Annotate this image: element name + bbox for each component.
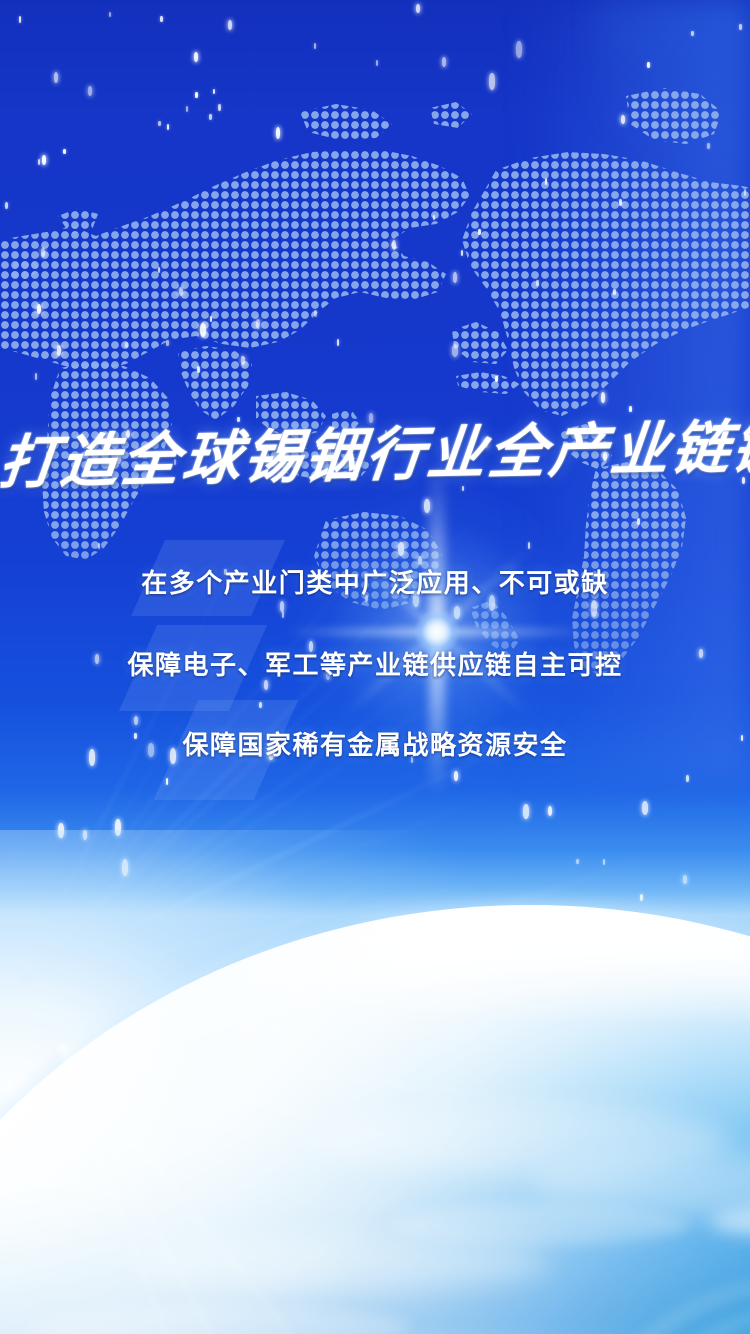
star-sparkle [601, 392, 605, 403]
star-sparkle [613, 289, 616, 296]
star-sparkle [619, 199, 622, 206]
star-sparkle [433, 215, 436, 220]
star-sparkle [194, 52, 198, 62]
star-sparkle [158, 267, 161, 273]
star-sparkle [256, 319, 260, 330]
star-sparkle [337, 339, 340, 346]
star-sparkle [314, 310, 317, 317]
star-sparkle [109, 12, 112, 17]
star-sparkle [195, 92, 198, 98]
star-sparkle [495, 376, 498, 382]
star-sparkle [376, 60, 379, 66]
star-sparkle [213, 89, 216, 95]
star-sparkle [629, 406, 632, 412]
star-sparkle [276, 127, 280, 139]
star-sparkle [489, 73, 495, 90]
star-sparkle [691, 31, 694, 37]
star-sparkle [160, 16, 163, 22]
region-alaska [452, 322, 508, 364]
star-sparkle [280, 601, 284, 612]
star-sparkle [453, 272, 457, 282]
earth-graphic [0, 905, 750, 1334]
star-sparkle [35, 373, 38, 380]
islands-aleutian [456, 372, 520, 394]
star-sparkle [392, 240, 396, 250]
star-sparkle [739, 24, 742, 30]
star-sparkle [744, 189, 747, 196]
star-sparkle [83, 830, 87, 840]
star-sparkle [545, 178, 548, 185]
poster-subtitle-1: 在多个产业门类中广泛应用、不可或缺 [0, 563, 750, 600]
star-sparkle [218, 104, 221, 111]
region-greenland [626, 88, 722, 144]
star-sparkle [259, 702, 262, 709]
star-sparkle [42, 155, 46, 165]
star-sparkle [282, 611, 285, 617]
star-sparkle [88, 86, 92, 95]
star-sparkle [523, 804, 529, 819]
star-sparkle [591, 600, 597, 617]
star-sparkle [57, 345, 61, 356]
star-sparkle [576, 859, 579, 864]
region-svalbard [430, 102, 472, 128]
star-sparkle [647, 62, 650, 68]
star-sparkle [640, 894, 643, 901]
star-sparkle [516, 41, 522, 58]
star-sparkle [158, 121, 161, 127]
continent-north-america [462, 152, 750, 416]
star-sparkle [209, 114, 212, 120]
star-sparkle [125, 342, 128, 349]
star-sparkle [637, 518, 640, 525]
star-sparkle [548, 806, 552, 817]
continent-eurasia [0, 150, 470, 370]
star-sparkle [197, 366, 200, 373]
star-sparkle [166, 340, 169, 346]
star-sparkle [228, 20, 232, 31]
star-sparkle [642, 801, 648, 815]
star-sparkle [5, 202, 8, 209]
star-sparkle [683, 875, 687, 884]
region-arctic-islands [300, 104, 392, 140]
poster-canvas: 打造全球锡铟行业全产业链链主 在多个产业门类中广泛应用、不可或缺 保障电子、军工… [0, 0, 750, 1334]
star-sparkle [241, 356, 245, 365]
star-sparkle [38, 159, 41, 166]
star-sparkle [314, 43, 317, 49]
star-sparkle [707, 143, 710, 149]
star-sparkle [54, 72, 58, 84]
star-sparkle [200, 323, 206, 337]
poster-title: 打造全球锡铟行业全产业链链主 [0, 410, 750, 502]
star-sparkle [686, 775, 689, 782]
star-sparkle [210, 316, 213, 322]
star-sparkle [134, 716, 138, 726]
star-sparkle [179, 287, 183, 296]
star-sparkle [478, 229, 481, 235]
star-sparkle [536, 280, 539, 286]
star-sparkle [58, 823, 64, 838]
star-sparkle [452, 344, 458, 357]
star-sparkle [416, 4, 420, 13]
